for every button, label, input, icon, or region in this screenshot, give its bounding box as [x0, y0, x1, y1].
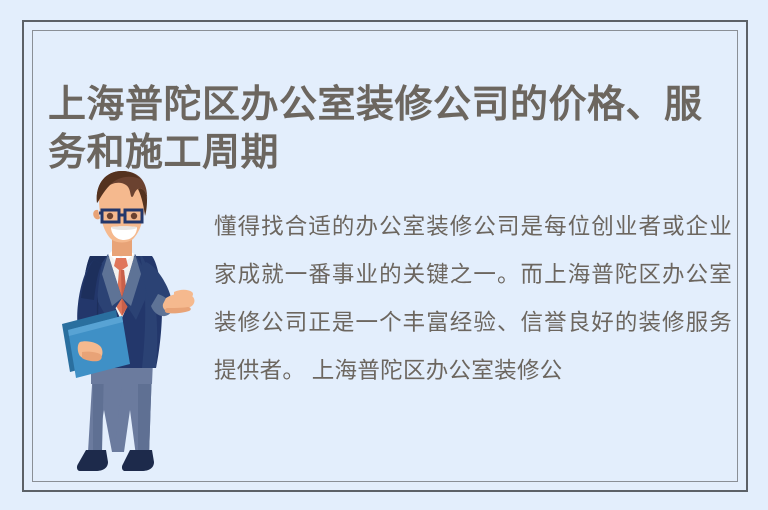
businessman-presenting-illustration: [46, 170, 196, 485]
article-card-canvas: 上海普陀区办公室装修公司的价格、服务和施工周期: [0, 0, 768, 510]
page-title: 上海普陀区办公室装修公司的价格、服务和施工周期: [48, 81, 738, 177]
article-body-text: 懂得找合适的办公室装修公司是每位创业者或企业家成就一番事业的关键之一。而上海普陀…: [214, 203, 732, 395]
